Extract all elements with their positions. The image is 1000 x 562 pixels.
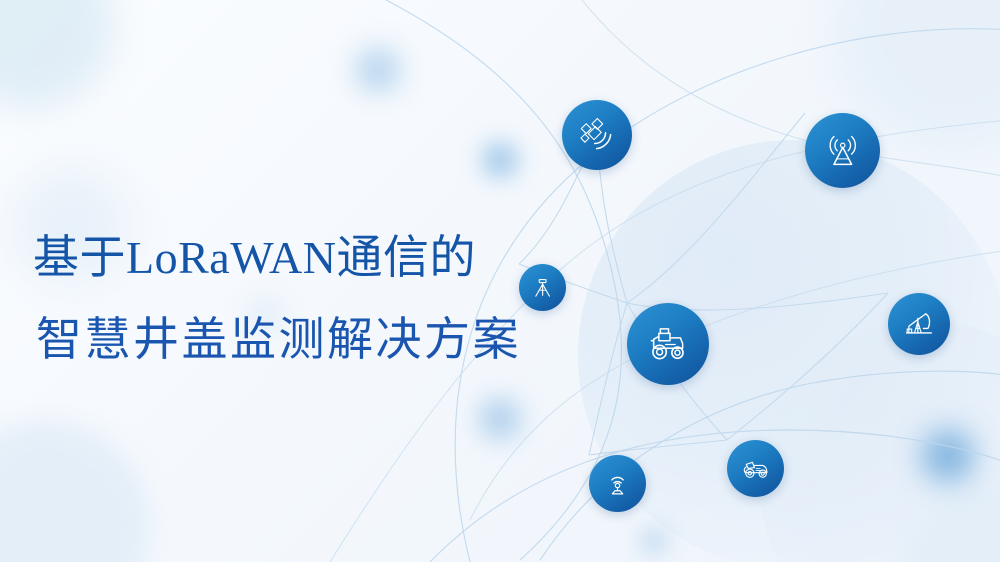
bokeh-dot	[479, 398, 521, 440]
bokeh-dot	[922, 430, 974, 482]
node-sensor[interactable]	[589, 455, 646, 512]
survey-tripod-icon	[529, 274, 556, 301]
bokeh-dot	[640, 527, 668, 555]
radio-tower-icon	[821, 129, 865, 173]
node-tractor[interactable]	[627, 303, 709, 385]
node-antenna[interactable]	[805, 113, 880, 188]
soft-blob	[0, 0, 115, 110]
harvester-icon	[739, 452, 772, 485]
soft-blob	[0, 420, 150, 562]
oil-pumpjack-icon	[901, 306, 937, 342]
tractor-icon	[644, 320, 692, 368]
soft-blob	[905, 480, 1000, 562]
title-block: 基于LoRaWAN通信的 智慧井盖监测解决方案	[33, 228, 521, 370]
node-harvester[interactable]	[727, 440, 784, 497]
satellite-dish-icon	[577, 115, 618, 156]
background-sphere-secondary	[760, 320, 1000, 562]
bokeh-dot	[356, 48, 400, 92]
node-pumpjack[interactable]	[888, 293, 950, 355]
bokeh-dot	[482, 142, 518, 178]
slide-canvas: 基于LoRaWAN通信的 智慧井盖监测解决方案	[0, 0, 1000, 562]
wireless-sensor-icon	[601, 467, 634, 500]
node-satellite[interactable]	[562, 100, 632, 170]
title-line-2: 智慧井盖监测解决方案	[36, 310, 521, 370]
title-line-1: 基于LoRaWAN通信的	[33, 228, 521, 288]
node-tripod[interactable]	[519, 264, 566, 311]
orbit-arc	[430, 430, 1000, 562]
